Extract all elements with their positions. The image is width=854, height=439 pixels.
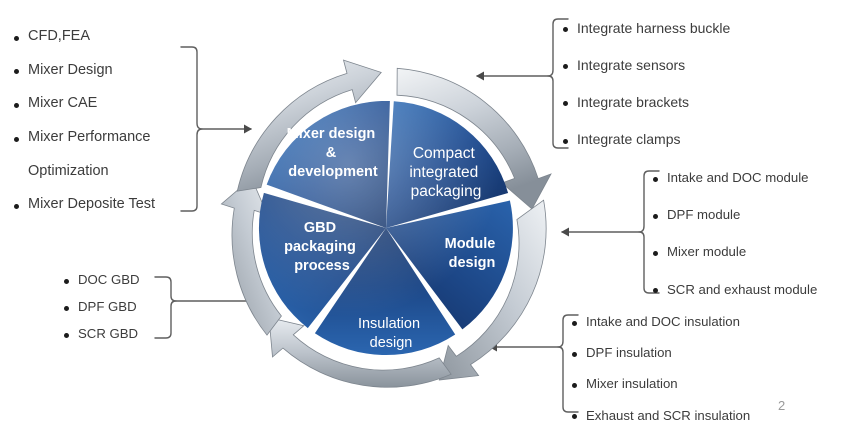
list-item: SCR GBD	[64, 326, 140, 341]
list-item: Mixer Deposite Test	[14, 196, 155, 213]
list-item: SCR and exhaust module	[653, 282, 817, 297]
list-integration-inputs: Integrate harness buckle Integrate senso…	[563, 20, 730, 168]
list-item: Mixer Performance	[14, 129, 155, 146]
list-item: Exhaust and SCR insulation	[572, 408, 750, 423]
list-item: DOC GBD	[64, 272, 140, 287]
list-item: Mixer insulation	[572, 376, 750, 391]
bullet-icon	[563, 64, 568, 69]
bullet-icon	[14, 69, 19, 74]
list-item: Integrate harness buckle	[563, 20, 730, 36]
bullet-icon	[653, 214, 658, 219]
list-item: Intake and DOC insulation	[572, 314, 750, 329]
bullet-icon	[64, 279, 69, 284]
bullet-icon	[572, 352, 577, 357]
list-item: CFD,FEA	[14, 28, 155, 45]
list-module-inputs: Intake and DOC module DPF module Mixer m…	[653, 170, 817, 319]
bullet-icon	[64, 306, 69, 311]
list-item: DPF GBD	[64, 299, 140, 314]
bullet-icon	[563, 101, 568, 106]
bullet-spacer-icon	[14, 170, 19, 175]
bullet-icon	[14, 36, 19, 41]
list-item: Integrate clamps	[563, 131, 730, 147]
bullet-icon	[64, 333, 69, 338]
diagram-canvas: Compact integrated packaging Module desi…	[0, 0, 854, 431]
page-number: 2	[778, 398, 785, 413]
list-item-continuation: Optimization	[14, 163, 155, 180]
list-mixer-design-inputs: CFD,FEA Mixer Design Mixer CAE Mixer Per…	[14, 28, 155, 230]
bullet-icon	[563, 27, 568, 32]
bullet-icon	[653, 288, 658, 293]
bullet-icon	[14, 204, 19, 209]
list-item: DPF insulation	[572, 345, 750, 360]
list-item: Integrate sensors	[563, 57, 730, 73]
label-compact-integrated-packaging: Compact integrated packaging	[409, 145, 482, 200]
bullet-icon	[653, 251, 658, 256]
bullet-icon	[14, 137, 19, 142]
list-item: Mixer CAE	[14, 95, 155, 112]
list-gbd-inputs: DOC GBD DPF GBD SCR GBD	[64, 272, 140, 354]
bracket-mixer	[181, 47, 202, 211]
list-item: DPF module	[653, 207, 817, 222]
list-item: Integrate brackets	[563, 94, 730, 110]
bullet-icon	[563, 139, 568, 144]
bullet-icon	[572, 383, 577, 388]
list-item: Mixer module	[653, 244, 817, 259]
cycle-wheel: Compact integrated packaging Module desi…	[214, 52, 564, 412]
bracket-gbd	[155, 277, 176, 338]
list-item: Mixer Design	[14, 62, 155, 79]
bullet-icon	[572, 414, 577, 419]
bullet-icon	[653, 177, 658, 182]
list-insulation-inputs: Intake and DOC insulation DPF insulation…	[572, 314, 750, 439]
bullet-icon	[572, 321, 577, 326]
bullet-icon	[14, 103, 19, 108]
list-item: Intake and DOC module	[653, 170, 817, 185]
